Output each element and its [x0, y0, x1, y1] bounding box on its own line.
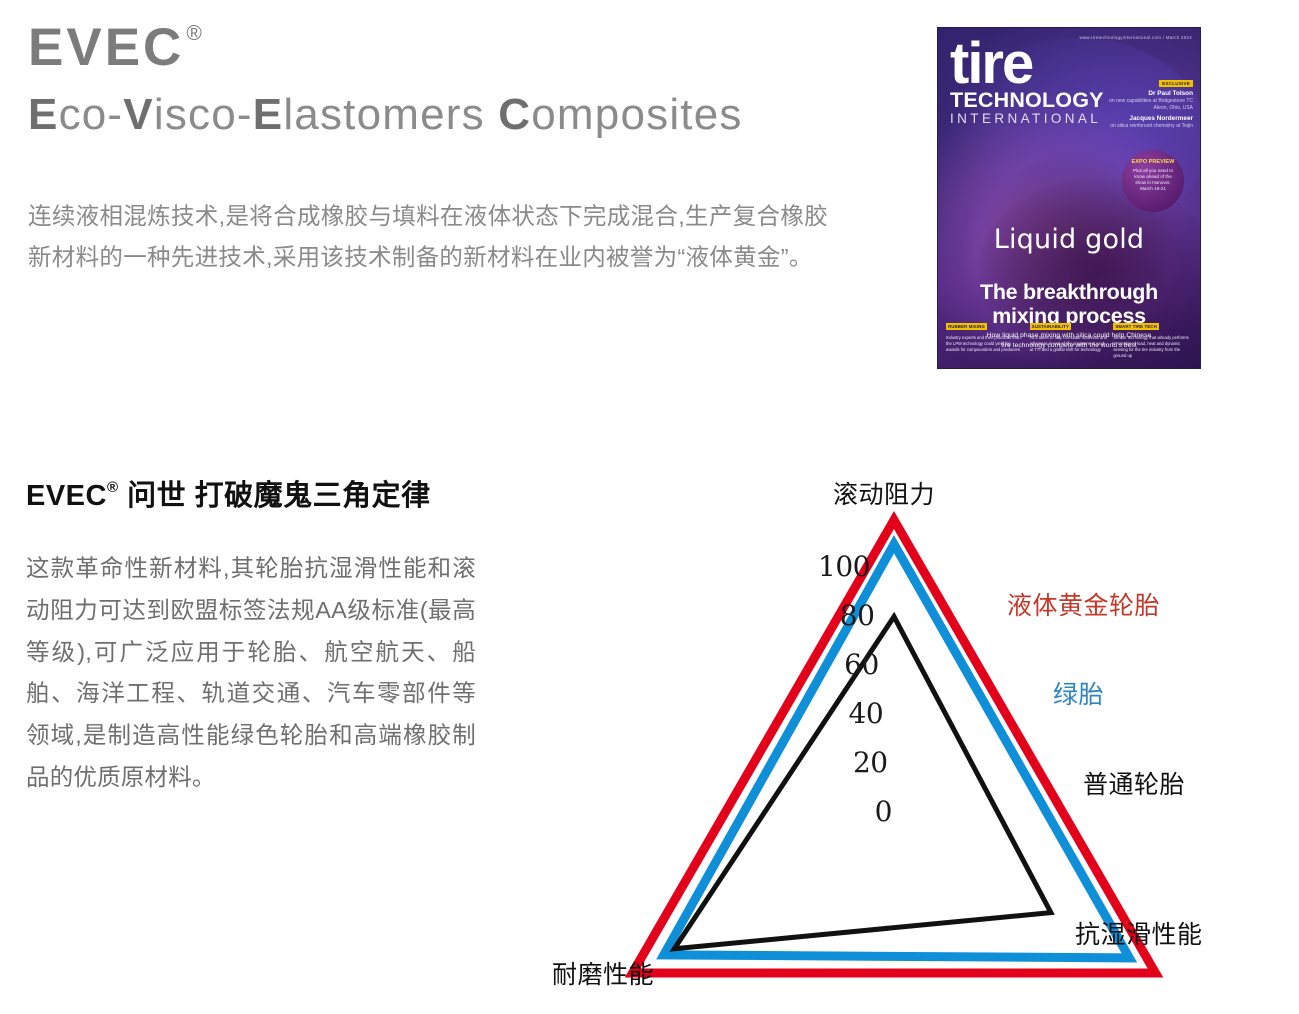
brand-expansion-cap-2: E: [253, 90, 284, 139]
radar-axis-label-wet-grip: 抗湿滑性能: [1075, 915, 1203, 951]
brand-expansion-rest-1: isco-: [154, 90, 253, 139]
radar-scale-tick-0: 0: [830, 795, 892, 828]
radar-scale-tick-60: 60: [817, 648, 879, 681]
radar-scale-tick-80: 80: [812, 599, 874, 632]
section-heading: EVEC® 问世 打破魔鬼三角定律: [26, 472, 431, 514]
radar-scale-tick-40: 40: [821, 697, 883, 730]
cover-person-2-sub: on silica reinforced chemistry at Teijin: [1098, 123, 1193, 130]
cover-badge-text: Plus all you need to know ahead of the s…: [1122, 166, 1184, 192]
cover-brief-tag: RUBBER MIXING: [946, 323, 987, 330]
radar-chart: 滚动阻力 耐磨性能 抗湿滑性能 液体黄金轮胎 绿胎 普通轮胎 100806040…: [520, 460, 1280, 1005]
brand-expansion-cap-3: C: [498, 90, 531, 139]
cover-person-2: Jacques Nordermeer: [1098, 115, 1193, 123]
brand-expansion-rest-3: omposites: [531, 90, 742, 139]
cover-brief-text: Industry experts and their practices tha…: [946, 335, 1025, 353]
cover-title-sub: TECHNOLOGY: [950, 89, 1104, 111]
section-heading-brand: EVEC: [26, 480, 107, 512]
brand-expansion-rest-0: co-: [59, 90, 124, 139]
cover-brief-text: All it takes to fully formulate material…: [1030, 335, 1109, 353]
cover-brief-tag: SMART TIRE TECH: [1113, 323, 1159, 330]
magazine-cover-image: www.tiretechnologyinternational.com / Ma…: [938, 28, 1200, 368]
cover-brief-item: SMART TIRE TECH Sensor technology that a…: [1113, 315, 1192, 359]
radar-legend-green-tire: 绿胎: [1053, 675, 1104, 711]
brand-expansion-cap-1: V: [123, 90, 154, 139]
radar-scale-tick-20: 20: [826, 746, 888, 779]
cover-brief-tag: SUSTAINABILITY: [1030, 323, 1071, 330]
radar-legend-liquid-gold: 液体黄金轮胎: [1007, 586, 1160, 622]
section-heading-rest: 问世 打破魔鬼三角定律: [119, 480, 431, 512]
cover-person-1-sub: on new capabilities at Bridgestone TC Ak…: [1098, 98, 1193, 111]
cover-subheadline-line1: The breakthrough: [938, 280, 1200, 304]
cover-masthead: tire TECHNOLOGY INTERNATIONAL: [950, 40, 1104, 127]
intro-paragraph: 连续液相混炼技术,是将合成橡胶与填料在液体状态下完成混合,生产复合橡胶新材料的一…: [28, 196, 828, 278]
cover-exclusive-tag: EXCLUSIVE: [1159, 80, 1193, 87]
cover-title-main: tire: [950, 40, 1104, 88]
brand-expansion-cap-0: E: [28, 90, 59, 139]
cover-badge-title: EXPO PREVIEW: [1122, 159, 1184, 166]
brand-acronym: EVEC®: [28, 20, 928, 76]
radar-axis-label-rolling-resistance: 滚动阻力: [833, 475, 935, 511]
cover-brief-text: Sensor technology that already performs …: [1113, 335, 1192, 359]
brand-expansion: Eco-Visco-Elastomers Composites: [28, 90, 928, 139]
brand-block: EVEC® Eco-Visco-Elastomers Composites: [28, 20, 928, 139]
radar-scale-tick-100: 100: [808, 550, 870, 583]
cover-brief-item: SUSTAINABILITY All it takes to fully for…: [1030, 315, 1109, 359]
brand-expansion-rest-2: lastomers: [283, 90, 498, 139]
cover-title-sub2: INTERNATIONAL: [950, 111, 1104, 127]
cover-person-1: Dr Paul Tolson: [1098, 90, 1193, 98]
cover-expo-badge: EXPO PREVIEW Plus all you need to know a…: [1122, 150, 1184, 212]
cover-brief-strip: RUBBER MIXING Industry experts and their…: [946, 315, 1192, 359]
registered-trademark-icon: ®: [186, 22, 201, 45]
brand-acronym-text: EVEC: [28, 18, 184, 77]
radar-axis-label-wear-resistance: 耐磨性能: [552, 955, 654, 991]
section-paragraph: 这款革命性新材料,其轮胎抗湿滑性能和滚动阻力可达到欧盟标签法规AA级标准(最高等…: [26, 548, 476, 799]
registered-trademark-icon: ®: [107, 479, 119, 496]
cover-headline: Liquid gold: [938, 224, 1200, 255]
radar-legend-ordinary-tire: 普通轮胎: [1083, 765, 1185, 801]
cover-topright-block: EXCLUSIVE Dr Paul Tolson on new capabili…: [1098, 72, 1193, 134]
cover-brief-item: RUBBER MIXING Industry experts and their…: [946, 315, 1025, 359]
